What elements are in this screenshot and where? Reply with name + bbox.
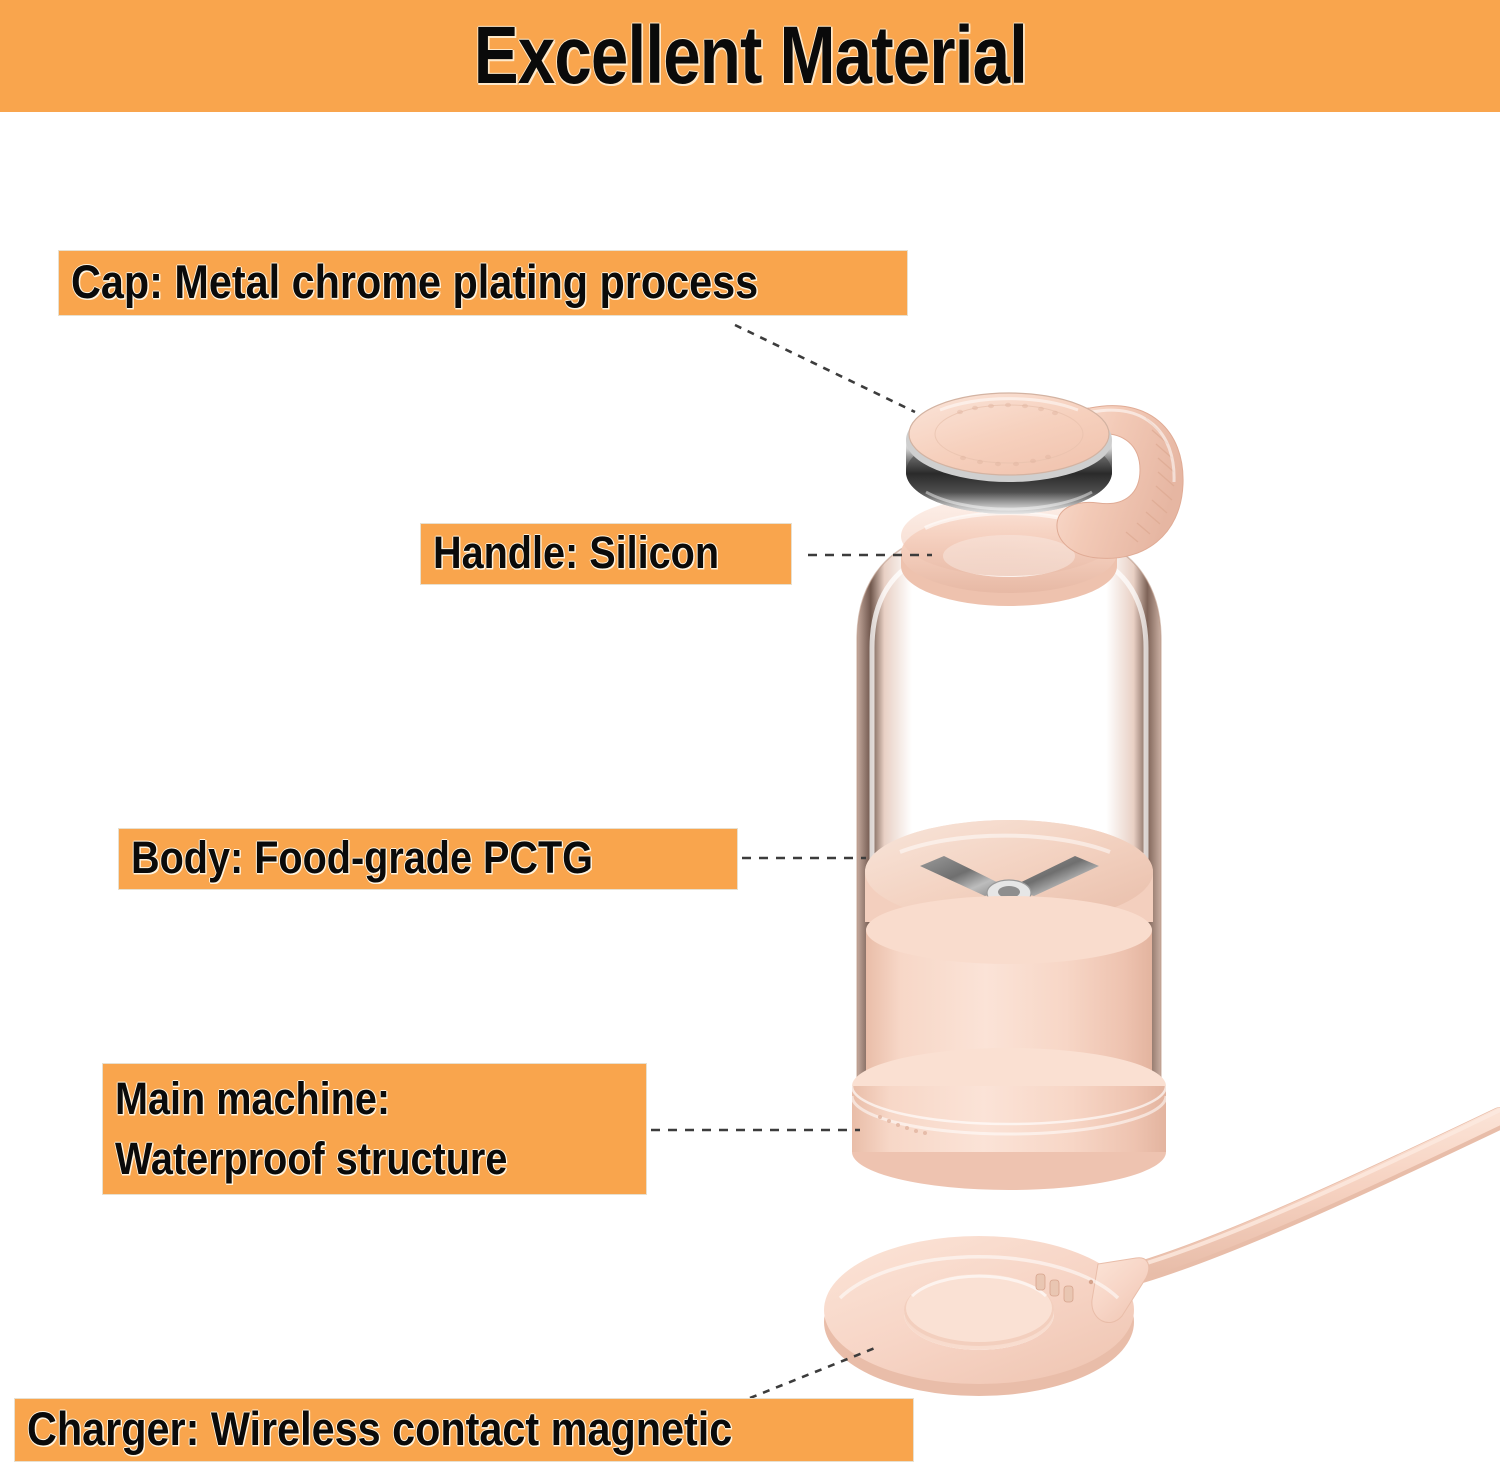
page-title: Excellent Material bbox=[473, 15, 1026, 97]
callout-handle: Handle: Silicon bbox=[420, 523, 792, 585]
callout-cap: Cap: Metal chrome plating process bbox=[58, 250, 908, 316]
blade-vents bbox=[982, 933, 1039, 945]
infographic-page: Excellent Material bbox=[0, 0, 1500, 1462]
header-banner: Excellent Material bbox=[0, 0, 1500, 112]
magnetic-contacts bbox=[1036, 1274, 1093, 1302]
callout-body-line-1: Body: Food-grade PCTG bbox=[131, 832, 654, 884]
callout-cap-line-1: Cap: Metal chrome plating process bbox=[71, 255, 796, 309]
leader-line-cap bbox=[735, 325, 915, 412]
leader-lines bbox=[0, 0, 1500, 1462]
callout-charger: Charger: Wireless contact magnetic bbox=[14, 1398, 914, 1462]
product-illustration bbox=[0, 0, 1500, 1462]
callout-main-machine: Main machine: Waterproof structure bbox=[102, 1063, 647, 1195]
leader-line-charger bbox=[750, 1348, 875, 1398]
callout-body: Body: Food-grade PCTG bbox=[118, 828, 738, 890]
callout-charger-line-1: Charger: Wireless contact magnetic bbox=[27, 1402, 796, 1456]
handle-strap-group bbox=[1057, 406, 1183, 559]
callout-handle-line-1: Handle: Silicon bbox=[433, 527, 737, 579]
chrome-band-group bbox=[906, 430, 1112, 514]
callout-main-machine-line-2: Waterproof structure bbox=[115, 1129, 572, 1189]
charger-group bbox=[824, 1110, 1500, 1396]
blade-group bbox=[920, 856, 1099, 935]
bottle-body-group bbox=[857, 534, 1161, 1095]
motor-base-group bbox=[852, 896, 1166, 1190]
callout-main-machine-line-1: Main machine: bbox=[115, 1069, 572, 1129]
cap-group bbox=[906, 393, 1112, 482]
blade-assembly-group bbox=[865, 820, 1153, 924]
silicone-ring-group bbox=[901, 496, 1117, 606]
